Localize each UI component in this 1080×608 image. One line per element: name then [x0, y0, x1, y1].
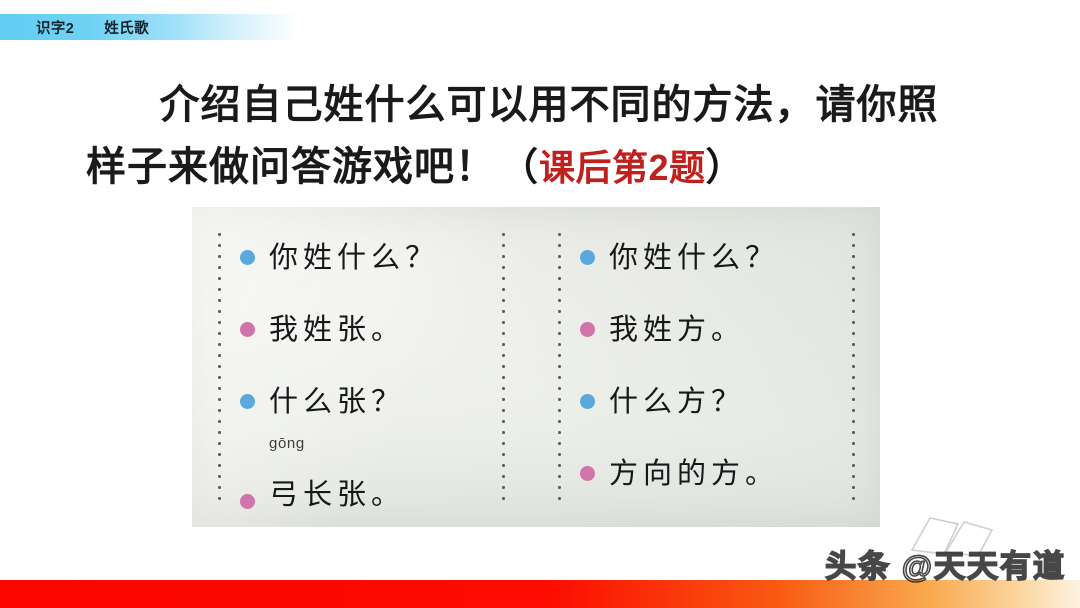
- title-line-1: 介绍自己姓什么可以用不同的方法，请你照: [0, 74, 1080, 136]
- textbook-excerpt-image: 你姓什么？ 我姓张。 什么张？ gōng 弓长张。 你姓什么？ 我姓方。 什么方…: [192, 207, 880, 527]
- dotted-divider-left: [218, 229, 221, 507]
- dialogue-text: 我姓方。: [609, 315, 745, 344]
- dialogue-text: 我姓张。: [269, 315, 405, 344]
- dotted-divider-mid-b: [558, 229, 561, 507]
- dialogue-row: gōng 弓长张。: [240, 437, 510, 519]
- title-note: （ 课后第2题 ）: [500, 137, 745, 199]
- dialogue-row: 什么方？: [580, 365, 850, 437]
- dialogue-text: 弓长张。: [269, 480, 405, 509]
- dotted-divider-right: [852, 229, 855, 507]
- header-lesson-title: 姓氏歌: [104, 17, 149, 38]
- page-title: 介绍自己姓什么可以用不同的方法，请你照 样子来做问答游戏吧！ （ 课后第2题 ）: [0, 74, 1080, 199]
- question-bullet-icon: [580, 250, 595, 265]
- dialogue-row: 你姓什么？: [580, 221, 850, 293]
- note-close-paren: ）: [706, 137, 745, 199]
- question-bullet-icon: [240, 250, 255, 265]
- watermark-text: 头条 @天天有道: [825, 541, 1066, 586]
- note-open-paren: （: [500, 137, 539, 199]
- dialogue-text: 你姓什么？: [609, 243, 779, 272]
- dialogue-text: 什么方？: [609, 387, 745, 416]
- dialogue-row: 你姓什么？: [240, 221, 510, 293]
- answer-bullet-icon: [240, 494, 255, 509]
- header-breadcrumb: 识字2 姓氏歌: [0, 14, 149, 40]
- title-line-2-text: 样子来做问答游戏吧！: [86, 136, 496, 198]
- dialogue-text: 什么张？: [269, 387, 405, 416]
- dialogue-row: 什么张？: [240, 365, 510, 437]
- dialogue-row: 我姓张。: [240, 293, 510, 365]
- dialogue-column-fang: 你姓什么？ 我姓方。 什么方？ 方向的方。: [580, 221, 850, 509]
- dialogue-row: 方向的方。: [580, 437, 850, 509]
- pinyin-annotation: gōng: [269, 436, 305, 451]
- dialogue-column-zhang: 你姓什么？ 我姓张。 什么张？ gōng 弓长张。: [240, 221, 510, 519]
- question-bullet-icon: [240, 394, 255, 409]
- answer-bullet-icon: [580, 466, 595, 481]
- title-line-2-wrap: 样子来做问答游戏吧！ （ 课后第2题 ）: [0, 136, 1080, 199]
- answer-bullet-icon: [240, 322, 255, 337]
- dialogue-row: 我姓方。: [580, 293, 850, 365]
- dialogue-text: 你姓什么？: [269, 243, 439, 272]
- dialogue-text: 方向的方。: [609, 459, 779, 488]
- header-lesson-number: 识字2: [36, 17, 74, 38]
- question-bullet-icon: [580, 394, 595, 409]
- answer-bullet-icon: [580, 322, 595, 337]
- note-text: 课后第2题: [539, 137, 706, 199]
